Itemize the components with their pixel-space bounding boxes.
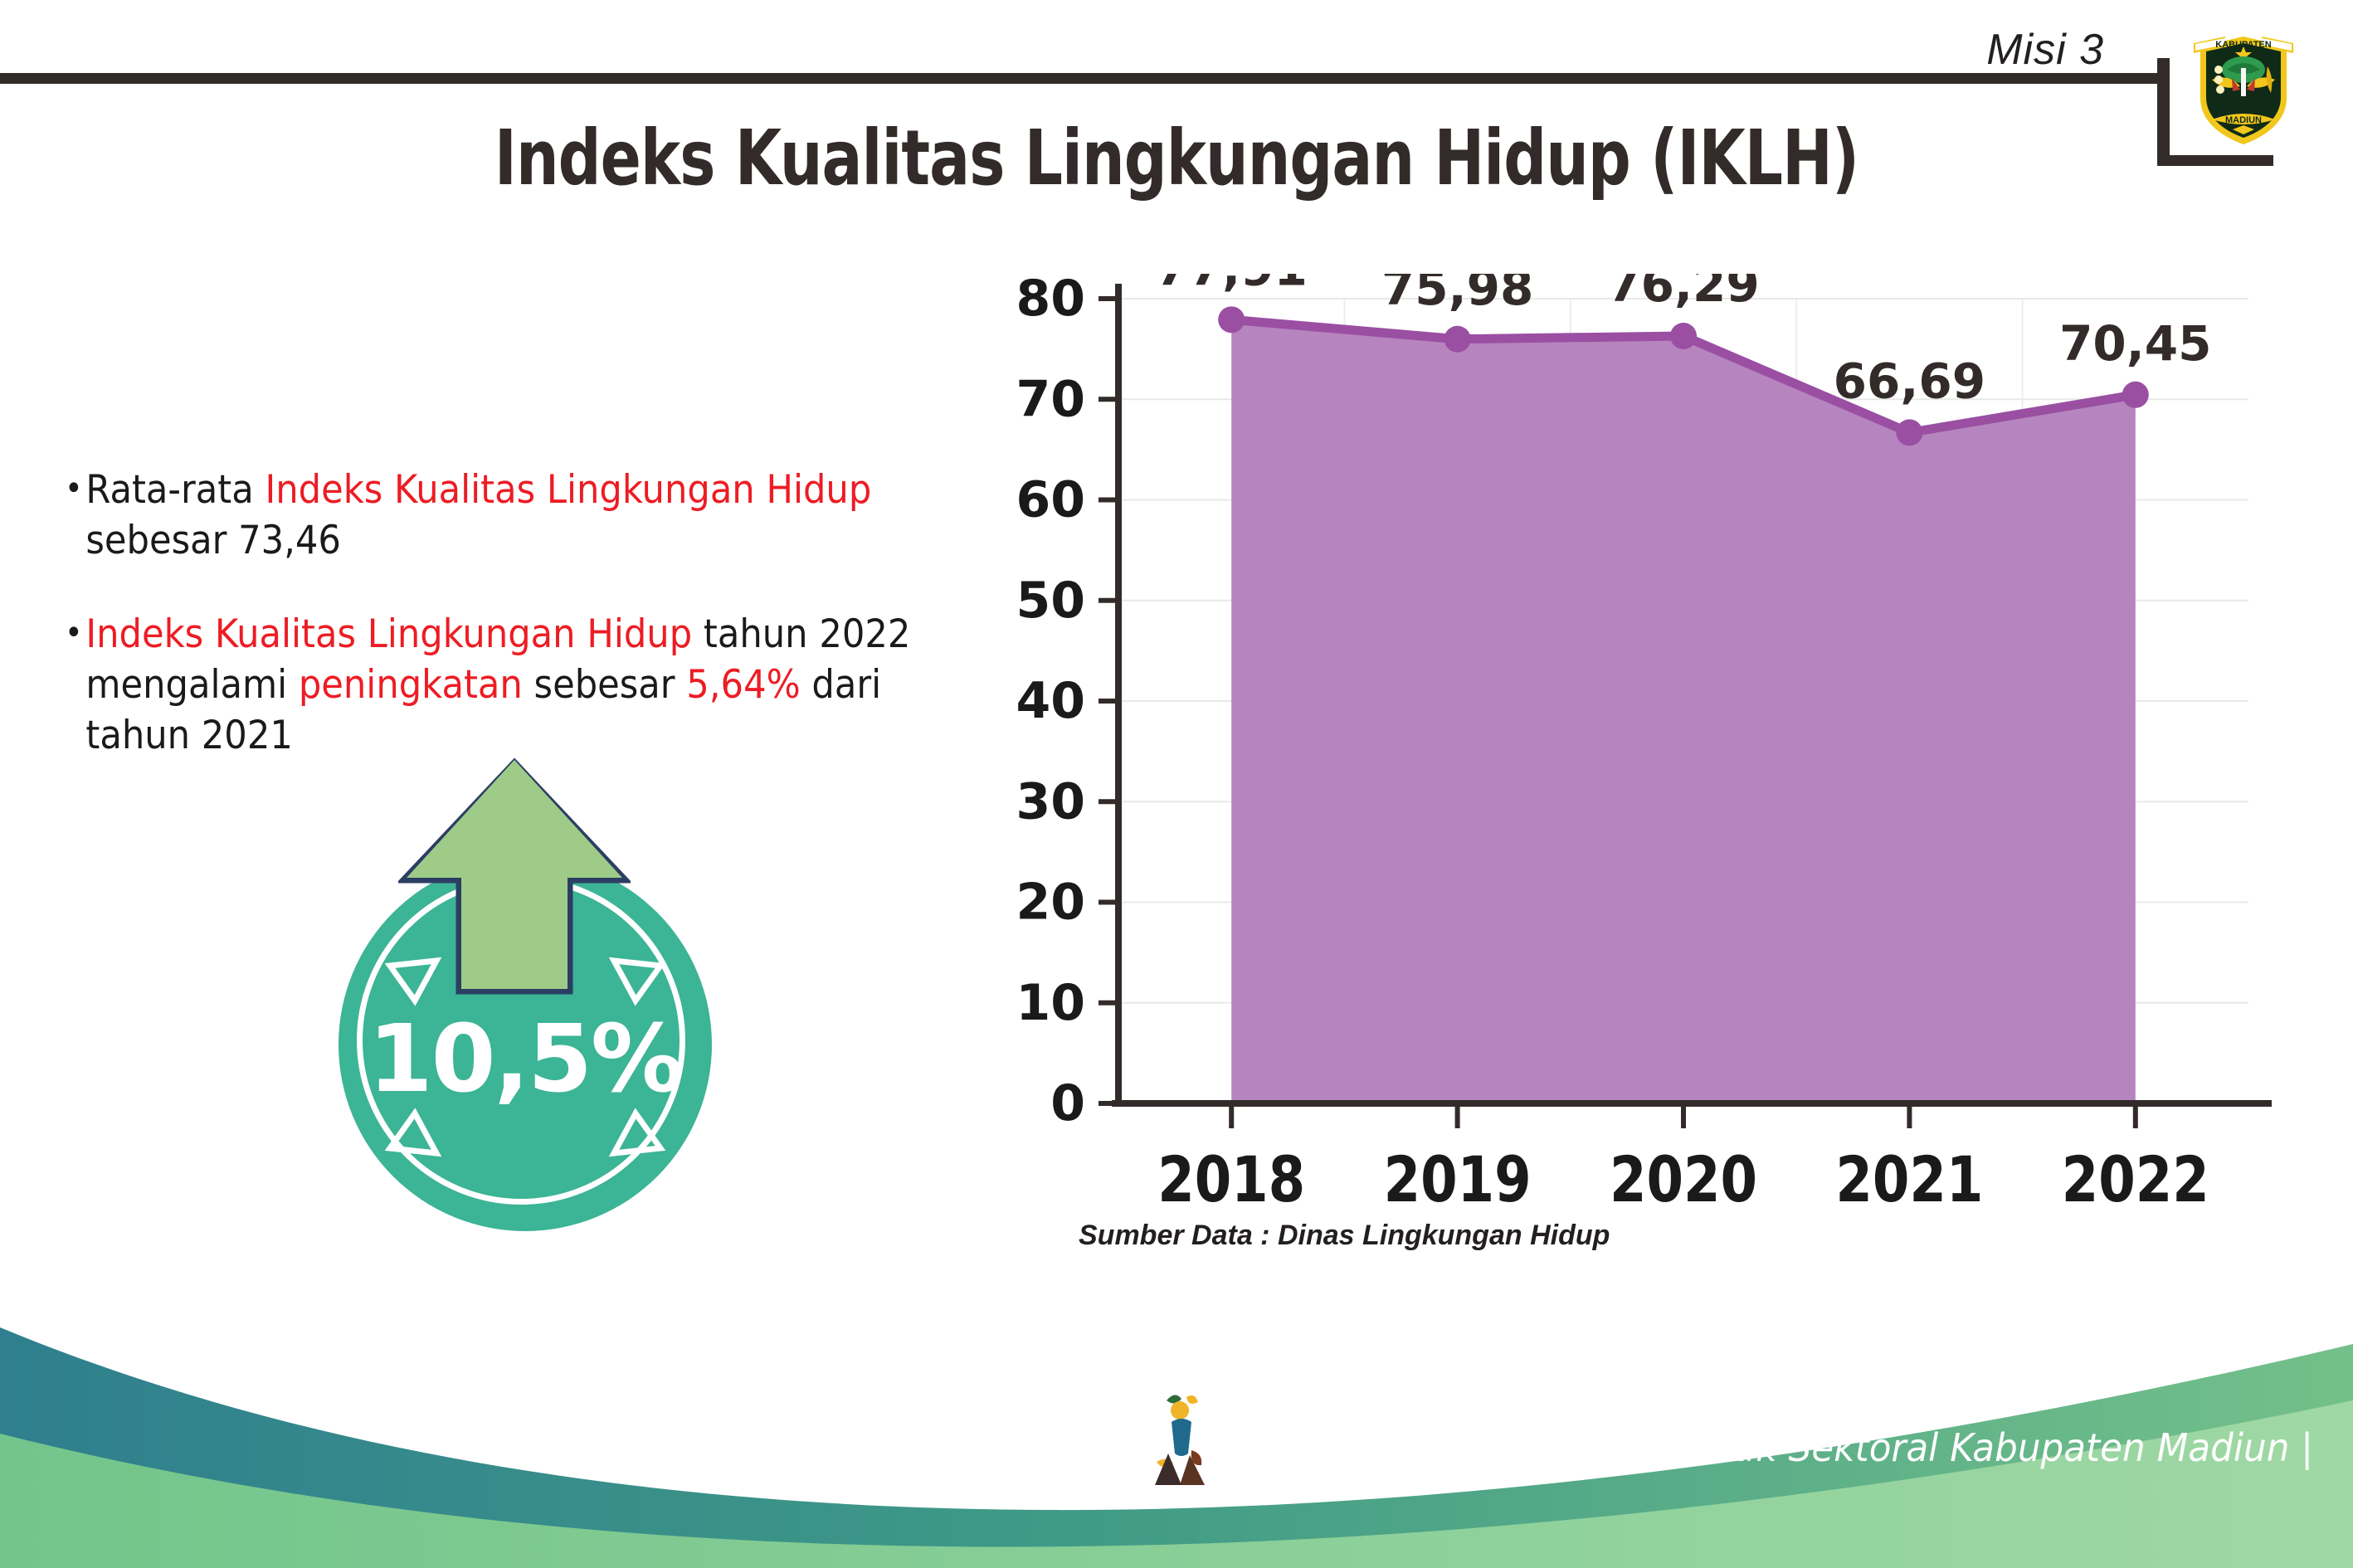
x-tick-label: 2021	[1835, 1142, 1983, 1216]
x-tick-label: 2018	[1157, 1142, 1305, 1216]
infografis-logo-icon	[1143, 1385, 1230, 1492]
bullet-segment: 5,64%	[686, 662, 800, 708]
data-label: 76,29	[1607, 274, 1759, 313]
bullet-segment: peningkatan	[299, 662, 523, 708]
y-tick-label: 50	[1016, 572, 1086, 630]
data-point-marker	[1444, 326, 1471, 353]
bullet-segment: sebesar 73,46	[85, 518, 341, 563]
data-label: 75,98	[1381, 274, 1533, 316]
bullet-text-2: Indeks Kualitas Lingkungan Hidup tahun 2…	[85, 609, 919, 761]
area-fill	[1231, 319, 2136, 1103]
slide: Misi 3 KABUPATEN MADIUN Indeks Kualitas …	[0, 0, 2353, 1568]
growth-badge: 10,5%	[322, 757, 753, 1205]
bullet-segment: Rata-rata	[85, 467, 265, 513]
y-tick-label: 0	[1050, 1074, 1085, 1132]
footer-caption: Media Infografis Data Statistik Sektoral…	[1228, 1425, 2313, 1470]
bullet-text-1: Rata-rata Indeks Kualitas Lingkungan Hid…	[85, 465, 919, 566]
bullet-segment: Indeks Kualitas Lingkungan Hidup	[266, 467, 872, 513]
data-point-marker	[1896, 419, 1922, 446]
summary-bullets: • Rata-rata Indeks Kualitas Lingkungan H…	[65, 465, 919, 804]
x-axis-tick-labels: 20182019202020212022	[1157, 1142, 2209, 1216]
header-rule	[0, 73, 2157, 84]
data-point-marker	[1218, 306, 1245, 333]
chart-area-series	[1231, 319, 2136, 1103]
data-label: 70,45	[2059, 315, 2211, 372]
y-tick-label: 20	[1016, 874, 1086, 932]
bullet-marker: •	[65, 465, 83, 566]
bullet-segment: sebesar	[523, 662, 686, 708]
y-tick-label: 40	[1016, 672, 1086, 730]
y-tick-label: 80	[1016, 274, 1086, 328]
badge-value: 10,5%	[339, 1006, 712, 1113]
data-point-marker	[1670, 323, 1697, 349]
misi-label: Misi 3	[1986, 25, 2104, 75]
data-label: 77,91	[1155, 274, 1307, 296]
y-tick-label: 10	[1016, 974, 1086, 1032]
chart-canvas: 01020304050607080 20182019202020212022 7…	[979, 274, 2273, 1253]
y-tick-label: 30	[1016, 772, 1086, 830]
bullet-marker: •	[65, 609, 83, 761]
x-tick-label: 2020	[1610, 1142, 1757, 1216]
bullet-segment: Indeks Kualitas Lingkungan Hidup	[85, 611, 692, 657]
x-tick-label: 2019	[1384, 1142, 1532, 1216]
bullet-item: • Rata-rata Indeks Kualitas Lingkungan H…	[65, 465, 919, 566]
data-point-marker	[2122, 382, 2149, 408]
y-tick-label: 70	[1016, 370, 1086, 428]
page-title: Indeks Kualitas Lingkungan Hidup (IKLH)	[82, 114, 2270, 202]
y-axis-tick-labels: 01020304050607080	[1016, 274, 1086, 1132]
y-tick-label: 60	[1016, 471, 1086, 529]
source-note: Sumber Data : Dinas Lingkungan Hidup	[1079, 1220, 1610, 1252]
bullet-item: • Indeks Kualitas Lingkungan Hidup tahun…	[65, 609, 919, 761]
data-label: 66,69	[1834, 353, 1985, 409]
iklh-area-chart: 01020304050607080 20182019202020212022 7…	[979, 274, 2273, 1253]
x-tick-label: 2022	[2062, 1142, 2209, 1216]
